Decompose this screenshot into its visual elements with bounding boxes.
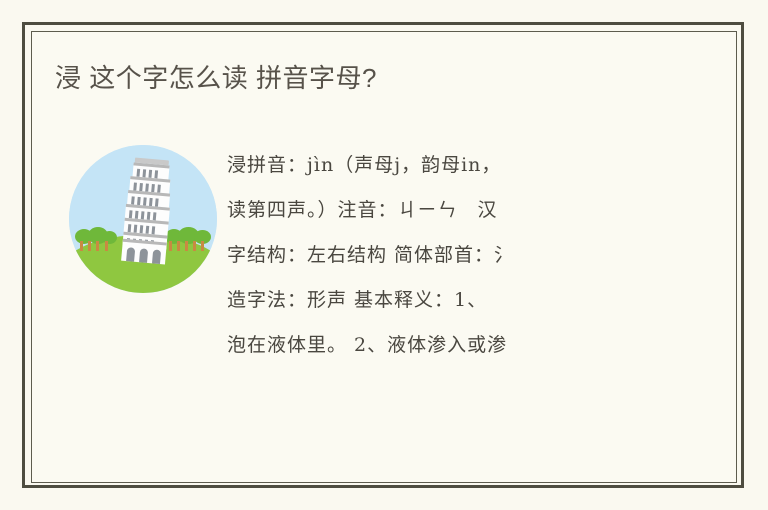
illustration-circle: [69, 145, 217, 293]
leaning-tower-icon: [121, 157, 184, 265]
article-line: 泡在液体里。 2、液体渗入或渗: [227, 323, 707, 368]
article-line: 造字法：形声 基本释义：1、: [227, 278, 707, 323]
article-line: 浸拼音：jìn（声母j，韵母in，: [227, 143, 707, 188]
illustration: [69, 145, 217, 293]
tree-left-icon: [75, 229, 117, 251]
article-body: 浸拼音：jìn（声母j，韵母in， 读第四声。）注音：ㄐㄧㄣ 汉 字结构：左右结…: [227, 143, 707, 368]
content-area: 浸 这个字怎么读 拼音字母?: [31, 31, 737, 483]
article-line: 字结构：左右结构 简体部首：氵: [227, 233, 707, 278]
article-line: 读第四声。）注音：ㄐㄧㄣ 汉: [227, 188, 707, 233]
page-root: 浸 这个字怎么读 拼音字母?: [0, 0, 768, 510]
page-title: 浸 这个字怎么读 拼音字母?: [55, 61, 377, 95]
